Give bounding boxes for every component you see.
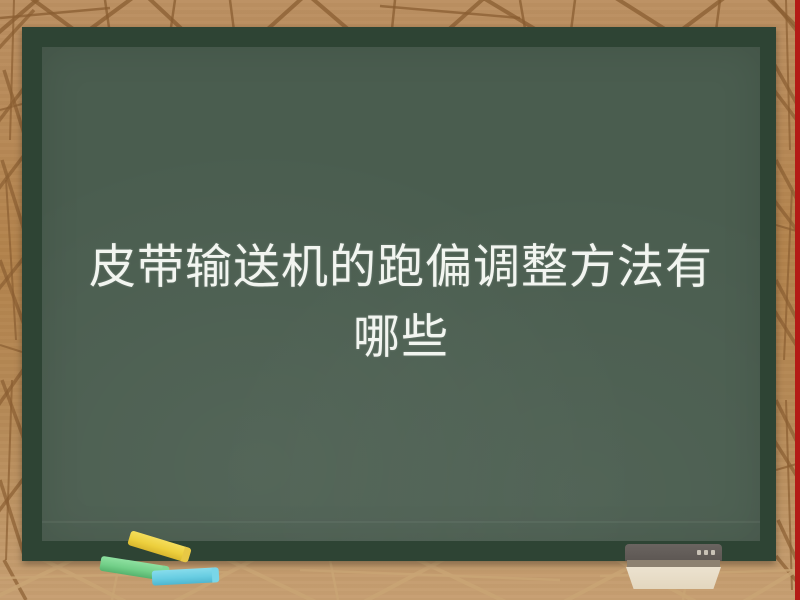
- eraser-dot: [711, 550, 715, 555]
- eraser-dots: [697, 550, 715, 555]
- eraser-dot: [704, 550, 708, 555]
- chalk-sticks: [100, 539, 230, 591]
- eraser-band: [627, 560, 720, 568]
- right-edge-strip: [795, 0, 800, 600]
- eraser-handle: [625, 544, 722, 561]
- chalkboard-frame: 皮带输送机的跑偏调整方法有 哪些: [22, 27, 776, 561]
- chalkboard-surface: 皮带输送机的跑偏调整方法有 哪些: [42, 47, 760, 541]
- chalk-blue-body: [152, 567, 219, 585]
- question-title: 皮带输送机的跑偏调整方法有 哪些: [42, 233, 760, 373]
- chalk-ledge: [42, 520, 760, 523]
- chalk-blue-tip: [212, 567, 220, 582]
- chalk-stick-blue: [152, 567, 219, 585]
- title-line-2: 哪些: [64, 303, 738, 373]
- eraser-felt: [626, 567, 721, 589]
- chalk-stick-yellow: [127, 530, 191, 562]
- chalkboard-scene: 皮带输送机的跑偏调整方法有 哪些: [0, 0, 800, 600]
- title-line-1: 皮带输送机的跑偏调整方法有: [64, 233, 738, 303]
- eraser-dot: [697, 550, 701, 555]
- board-eraser: [625, 544, 722, 590]
